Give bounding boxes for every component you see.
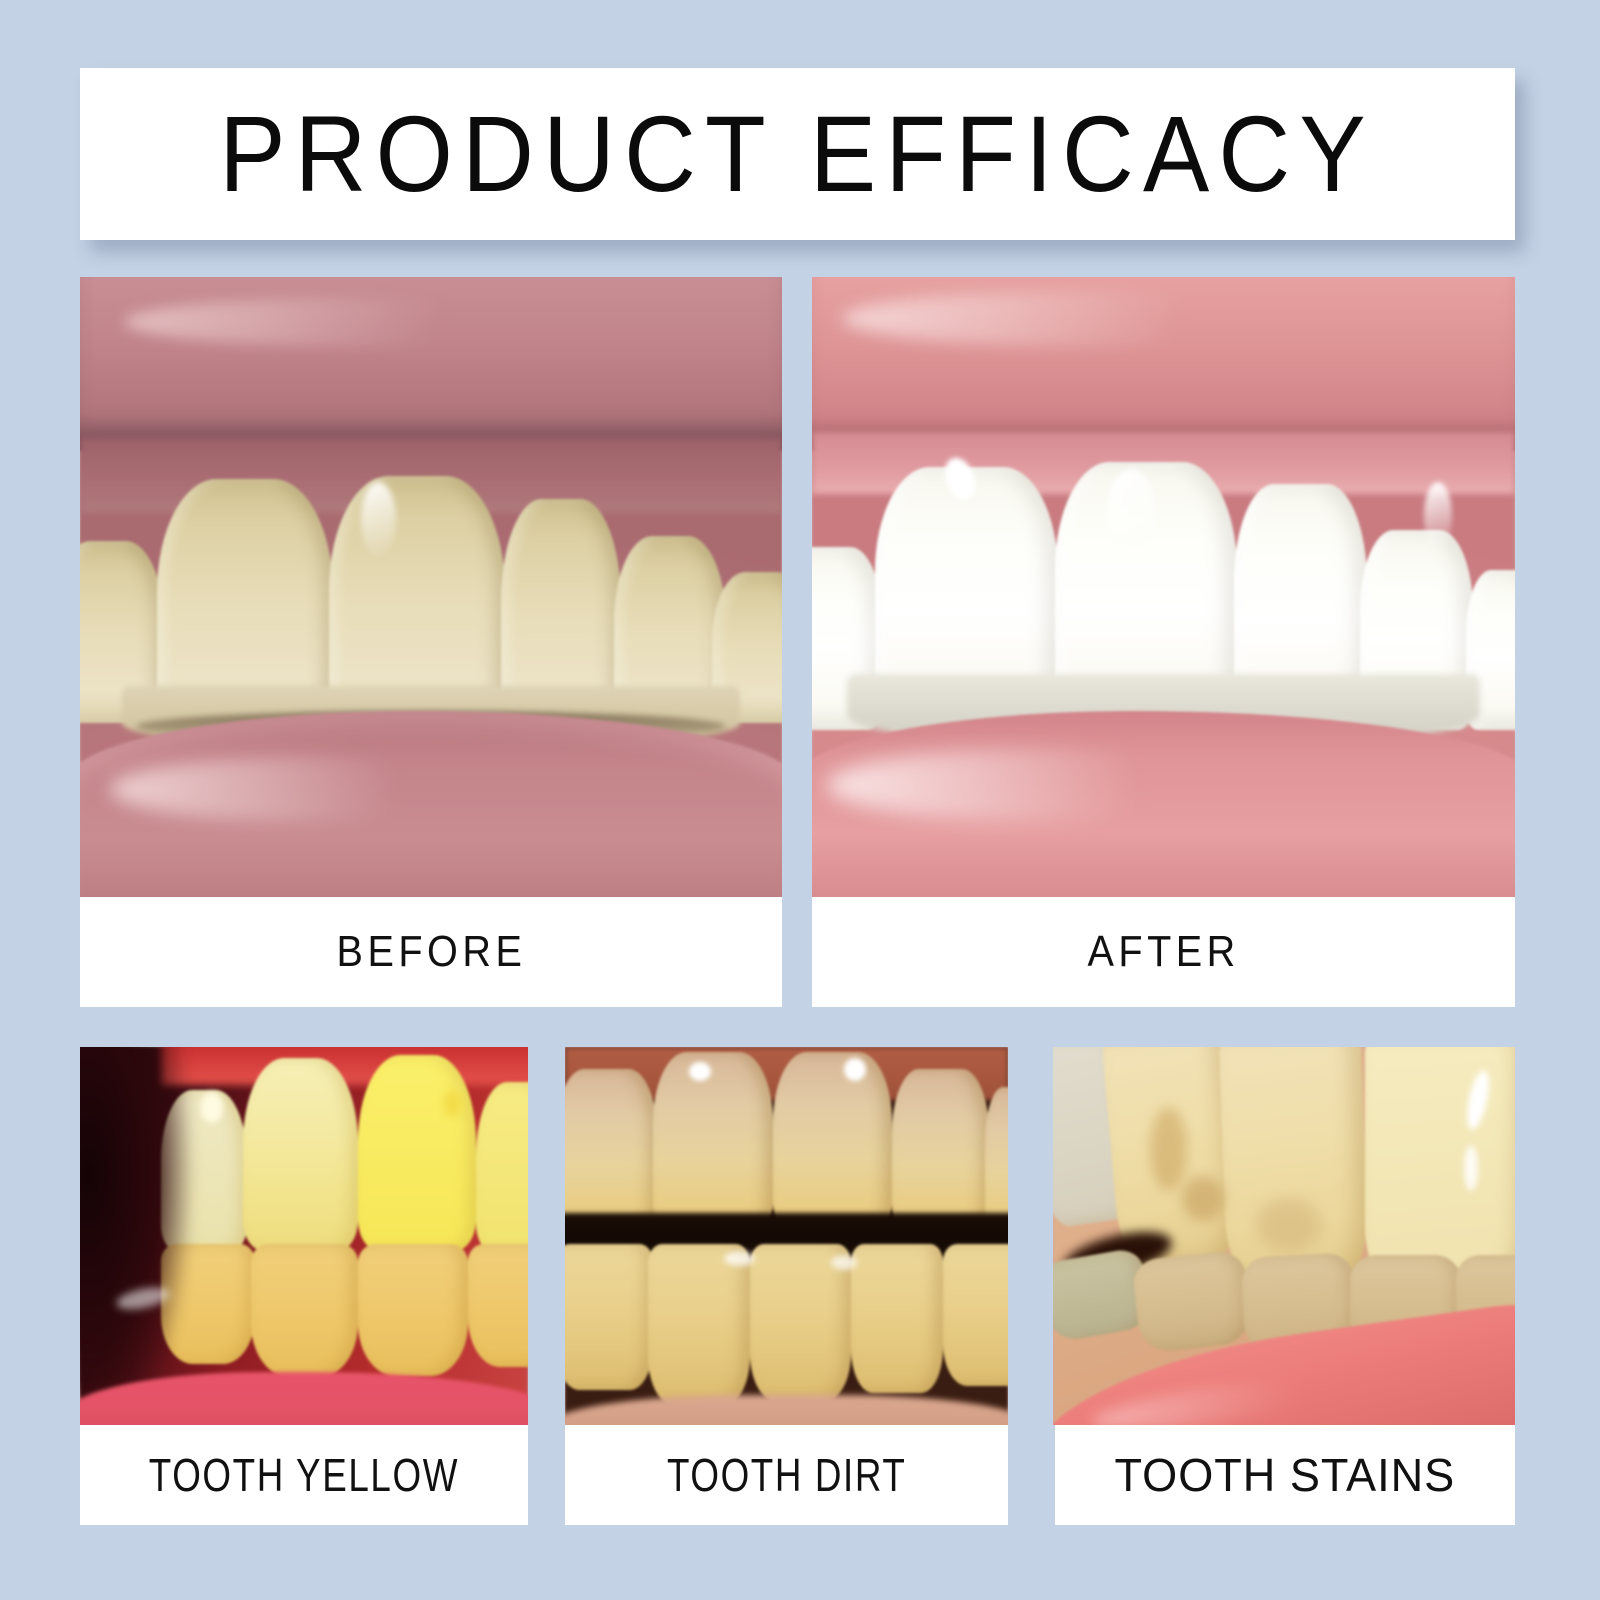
lower-lip [812, 711, 1515, 897]
upper-teeth-row [565, 1047, 1008, 1228]
tooth-yellow-photo [80, 1047, 528, 1425]
product-efficacy-infographic: PRODUCT EFFICACY BEFORE [0, 0, 1600, 1600]
before-caption-band: BEFORE [80, 897, 782, 1007]
title-card: PRODUCT EFFICACY [80, 68, 1515, 240]
after-caption-band: AFTER [812, 897, 1515, 1007]
tooth-stains-panel: TOOTH STAINS [1053, 1047, 1515, 1525]
tooth-yellow-panel: TOOTH YELLOW [80, 1047, 528, 1525]
before-photo [80, 277, 782, 897]
before-caption-label: BEFORE [336, 930, 526, 974]
lower-lip [80, 1372, 528, 1425]
tooth-yellow-caption-band: TOOTH YELLOW [80, 1425, 528, 1525]
tooth-highlight [361, 482, 396, 556]
tooth-dirt-caption-band: TOOTH DIRT [565, 1425, 1008, 1525]
stain-spot-3 [1256, 1198, 1321, 1251]
before-panel: BEFORE [80, 277, 782, 1007]
upper-teeth-row [80, 463, 782, 723]
upper-lip [80, 277, 782, 451]
tooth-highlight-4 [831, 1255, 858, 1270]
mouth-shadow [80, 1047, 210, 1391]
tooth-dirt-photo [565, 1047, 1008, 1425]
stain-spot-1 [1150, 1107, 1187, 1190]
tooth-stains-caption-label: TOOTH STAINS [1115, 1452, 1456, 1498]
tooth-stains-photo [1053, 1047, 1515, 1425]
tooth-highlight-1 [689, 1062, 711, 1081]
after-panel: AFTER [812, 277, 1515, 1007]
upper-lip [812, 277, 1515, 451]
lower-lip [80, 711, 782, 897]
tooth-highlight [201, 1092, 223, 1122]
upper-teeth-row [161, 1055, 528, 1252]
tooth-stains-caption-band: TOOTH STAINS [1055, 1425, 1515, 1525]
tooth-dirt-caption-label: TOOTH DIRT [667, 1452, 907, 1498]
tooth-highlight-2 [1464, 1145, 1478, 1190]
lower-teeth-row [565, 1244, 1008, 1418]
page-title: PRODUCT EFFICACY [220, 100, 1376, 208]
after-caption-label: AFTER [1087, 930, 1239, 974]
tooth-dirt-panel: TOOTH DIRT [565, 1047, 1008, 1525]
after-photo [812, 277, 1515, 897]
lower-teeth-row [161, 1244, 528, 1388]
tooth-highlight-center [1107, 469, 1156, 550]
tooth-yellow-caption-label: TOOTH YELLOW [149, 1452, 459, 1498]
stain-spot-2 [1182, 1176, 1224, 1221]
tooth-highlight-right [1424, 482, 1452, 550]
